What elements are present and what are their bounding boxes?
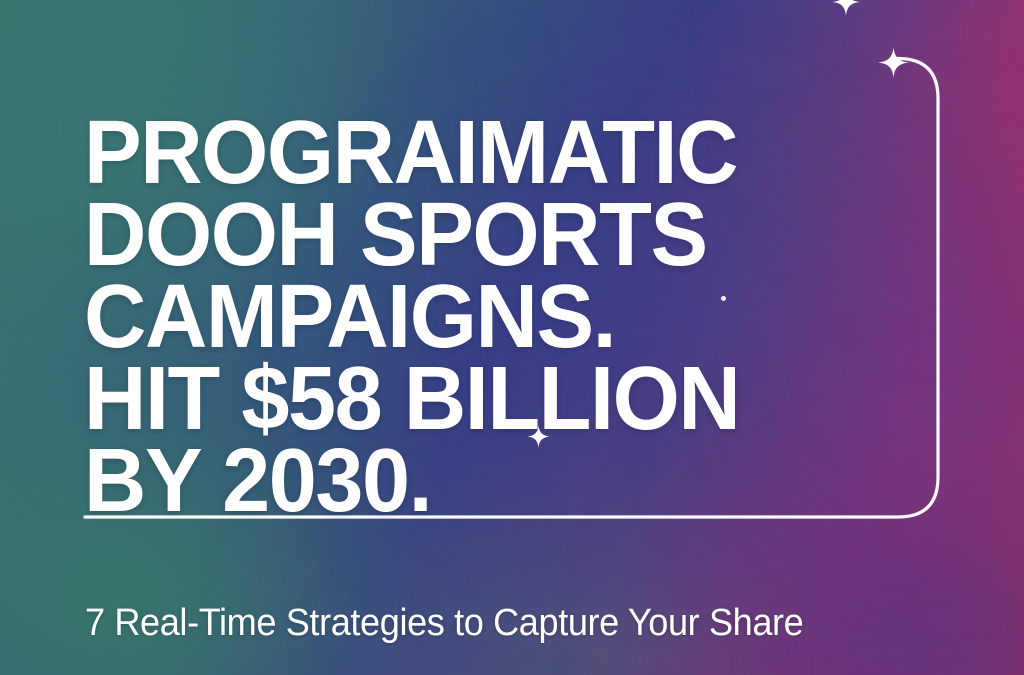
headline-line-3: CAMPAIGNS. xyxy=(84,276,852,358)
subtitle: 7 Real-Time Strategies to Capture Your S… xyxy=(85,601,803,645)
headline: PROGRAIMATIC DOOH SPORTS CAMPAIGNS. HIT … xyxy=(84,112,852,522)
headline-line-2: DOOH SPORTS xyxy=(84,194,852,276)
headline-line-5: BY 2030. xyxy=(84,440,852,522)
promo-slide: PROGRAIMATIC DOOH SPORTS CAMPAIGNS. HIT … xyxy=(0,0,1024,675)
headline-line-4: HIT $58 BILLION xyxy=(84,358,852,440)
headline-line-1: PROGRAIMATIC xyxy=(84,112,852,194)
